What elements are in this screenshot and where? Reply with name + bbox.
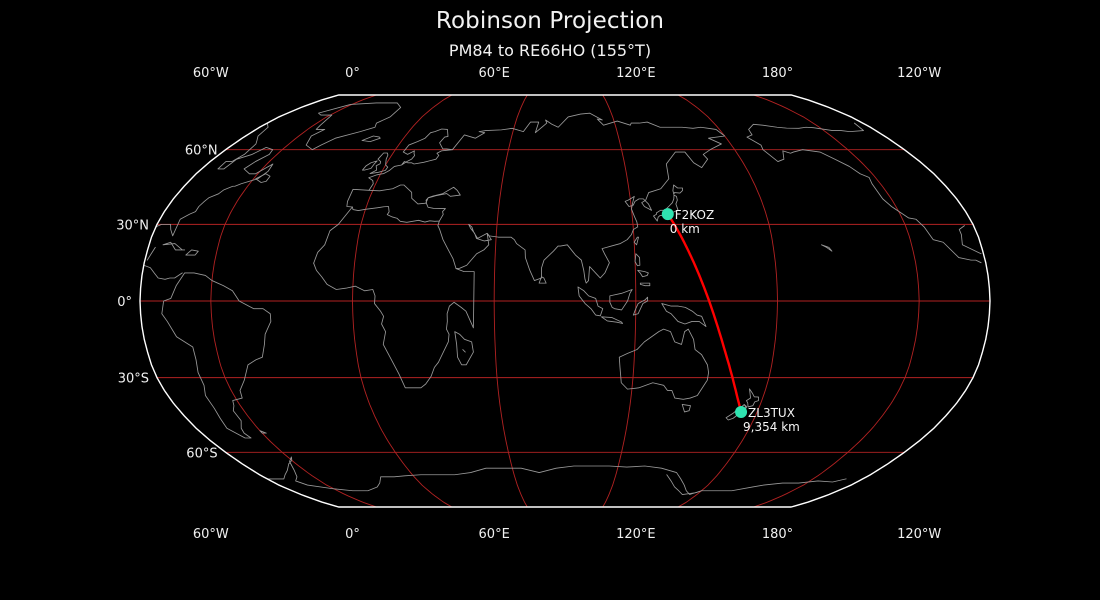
y-tick-0: 0°: [117, 295, 132, 310]
coastline-segment-36: [539, 277, 546, 283]
coastline-segment-33: [821, 245, 831, 251]
endpoint-end[interactable]: ZL3TUX9,354 km: [735, 406, 800, 434]
marker-dot-zl3tux[interactable]: [735, 406, 747, 418]
coastline-segment-29: [362, 136, 380, 142]
x-tick-bottom--60: 60°W: [193, 527, 229, 542]
robinson-map[interactable]: F2KOZ0 kmZL3TUX9,354 km 0°0°60°E60°E120°…: [0, 0, 1100, 600]
coastline-segment-19: [682, 404, 690, 412]
coastline-segment-23: [147, 123, 981, 263]
coastline-segment-11: [602, 317, 623, 324]
path-line: [668, 214, 741, 412]
coastline-segment-16: [314, 207, 353, 263]
y-tick-60: 60°N: [185, 144, 218, 159]
coastline-segment-28: [306, 103, 401, 150]
x-tick-top--60: 60°W: [193, 66, 229, 81]
marker-dot-f2koz[interactable]: [662, 208, 674, 220]
callsign-label-zl3tux: ZL3TUX: [748, 406, 795, 420]
x-tick-top-0: 0°: [345, 66, 360, 81]
x-tick-bottom-180: 180°: [762, 527, 793, 542]
coastline-segment-25: [144, 263, 981, 280]
distance-label-f2koz: 0 km: [670, 222, 700, 236]
coastline-segment-0: [347, 185, 461, 222]
x-tick-top-60: 60°E: [479, 66, 510, 81]
coastline-segment-2: [370, 153, 388, 174]
coastline-segment-8: [638, 270, 649, 276]
endpoint-start[interactable]: F2KOZ0 km: [662, 208, 714, 236]
coastline-segment-20: [746, 389, 758, 407]
coastline-segment-4: [438, 113, 725, 283]
coastline-segment-35: [260, 431, 266, 433]
x-tick-top-180: 180°: [762, 66, 793, 81]
coastline-segment-24: [256, 174, 270, 183]
map-figure: Robinson Projection PM84 to RE66HO (155°…: [0, 0, 1100, 600]
y-tick--60: 60°S: [186, 446, 217, 461]
y-tick-30: 30°N: [116, 218, 149, 233]
coastline-segment-7: [635, 254, 640, 266]
x-tick-top--120: 120°W: [897, 66, 941, 81]
coastline-segment-27: [186, 250, 199, 255]
distance-label-zl3tux: 9,354 km: [743, 420, 800, 434]
coastline-segment-3: [362, 161, 377, 170]
coastline-segment-6: [673, 185, 683, 194]
y-tick--30: 30°S: [118, 372, 149, 387]
great-circle-path: [668, 214, 741, 412]
coastline-segment-12: [610, 290, 632, 310]
graticule-layer: [140, 95, 990, 507]
coastline-segment-9: [640, 283, 649, 286]
callsign-label-f2koz: F2KOZ: [675, 208, 714, 222]
coastline-segment-15: [314, 263, 475, 388]
coastline-segment-17: [455, 332, 474, 365]
coastline-segment-30: [162, 273, 271, 438]
coastline-segment-14: [662, 304, 706, 327]
x-tick-bottom-120: 120°E: [616, 527, 656, 542]
coastline-segment-26: [163, 242, 185, 250]
coastline-segment-37: [634, 237, 638, 245]
coastline-segment-34: [463, 350, 465, 353]
x-tick-bottom--120: 120°W: [897, 527, 941, 542]
x-tick-bottom-60: 60°E: [479, 527, 510, 542]
axis-tick-labels: 0°0°60°E60°E120°E120°E180°180°120°W120°W…: [116, 66, 941, 542]
coastline-segment-18: [619, 329, 708, 399]
coastline-segment-31: [267, 457, 846, 495]
x-tick-bottom-0: 0°: [345, 527, 360, 542]
coastline-segment-1: [369, 129, 453, 190]
endpoint-markers[interactable]: F2KOZ0 kmZL3TUX9,354 km: [662, 208, 800, 434]
x-tick-top-120: 120°E: [616, 66, 656, 81]
